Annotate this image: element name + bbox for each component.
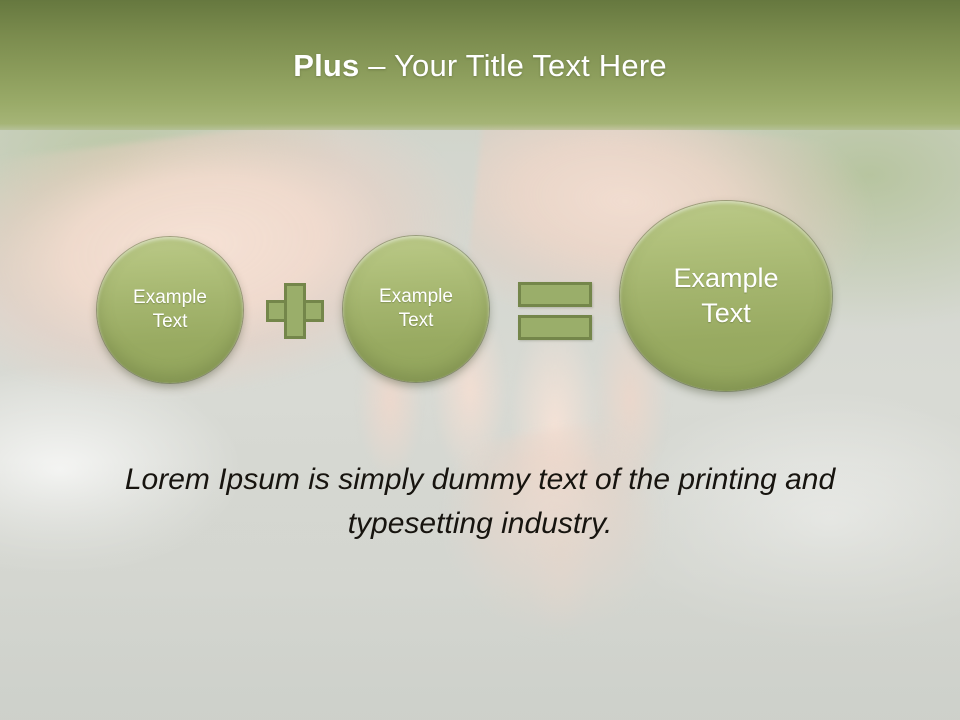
result-circle-line1: Example bbox=[673, 261, 778, 296]
operand-circle-2[interactable]: Example Text bbox=[343, 236, 489, 382]
operand-circle-2-line2: Text bbox=[399, 309, 434, 333]
operand-circle-1[interactable]: Example Text bbox=[97, 237, 243, 383]
operand-circle-2-line1: Example bbox=[379, 285, 453, 309]
plus-icon bbox=[266, 283, 324, 339]
page-title: Plus – Your Title Text Here bbox=[293, 48, 667, 84]
page-title-strong: Plus bbox=[293, 48, 359, 83]
page-title-rest: – Your Title Text Here bbox=[359, 48, 666, 83]
equals-icon-top-bar bbox=[518, 282, 592, 307]
slide-canvas: Plus – Your Title Text Here Example Text… bbox=[0, 0, 960, 720]
caption-text: Lorem Ipsum is simply dummy text of the … bbox=[110, 458, 850, 545]
title-band: Plus – Your Title Text Here bbox=[0, 0, 960, 130]
equals-icon bbox=[518, 282, 592, 342]
result-circle[interactable]: Example Text bbox=[620, 201, 832, 391]
result-circle-line2: Text bbox=[701, 296, 751, 331]
operand-circle-1-line2: Text bbox=[153, 310, 188, 334]
plus-icon-center bbox=[287, 303, 303, 319]
operand-circle-1-line1: Example bbox=[133, 286, 207, 310]
equals-icon-bottom-bar bbox=[518, 315, 592, 340]
